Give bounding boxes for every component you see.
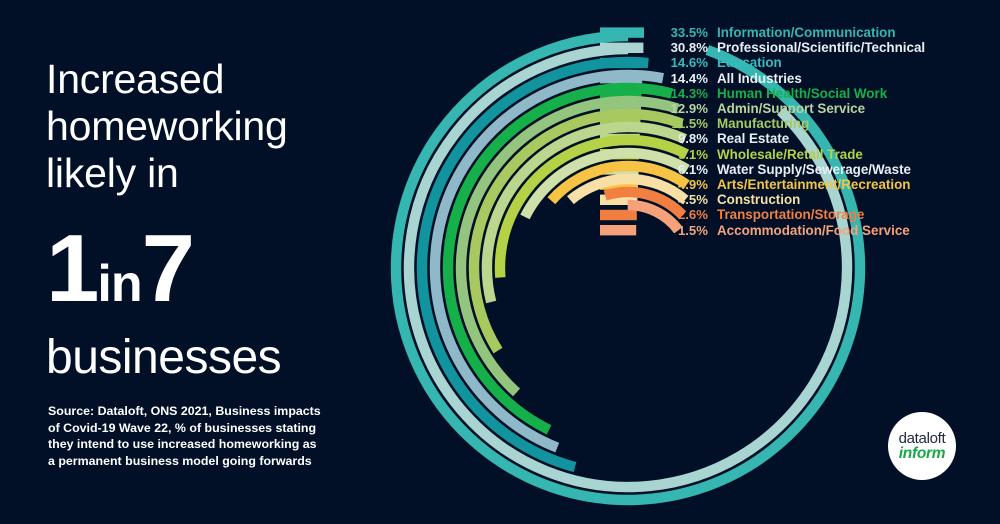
logo-text-dataloft: dataloft — [899, 431, 946, 446]
legend-swatch — [600, 55, 644, 70]
legend-label: Wholesale/Retail Trade — [717, 147, 863, 162]
legend-swatch — [600, 71, 644, 86]
legend-item: 14.6%Education — [600, 55, 925, 70]
legend-value: 12.9% — [650, 101, 708, 116]
legend-item: 9.8%Real Estate — [600, 131, 925, 146]
legend-value: 6.1% — [650, 162, 708, 177]
headline-block: Increased homeworking likely in 1in7 bus… — [46, 56, 386, 384]
big-statistic-unit: businesses — [46, 332, 386, 384]
legend-label: Water Supply/Sewerage/Waste — [717, 162, 911, 177]
legend-label: Construction — [717, 192, 800, 207]
big-number-one: 1 — [46, 215, 97, 322]
legend-value: 14.3% — [650, 86, 708, 101]
logo-text-inform: inform — [899, 446, 945, 462]
legend-swatch — [600, 192, 644, 207]
legend-item: 12.9%Admin/Support Service — [600, 101, 925, 116]
source-line-2: of Covid-19 Wave 22, % of businesses sta… — [48, 420, 348, 437]
infographic-canvas: Increased homeworking likely in 1in7 bus… — [0, 0, 1000, 524]
legend-swatch — [600, 101, 644, 116]
legend-value: 9.1% — [650, 147, 708, 162]
legend-value: 4.9% — [650, 177, 708, 192]
legend-value: 4.5% — [650, 192, 708, 207]
legend-label: Transportation/Storage — [717, 207, 864, 222]
chart-legend: 33.5%Information/Communication30.8%Profe… — [600, 25, 925, 238]
legend-label: Real Estate — [717, 131, 789, 146]
legend-swatch — [600, 86, 644, 101]
legend-label: Education — [717, 55, 782, 70]
legend-item: 2.6%Transportation/Storage — [600, 207, 925, 222]
legend-value: 33.5% — [650, 25, 708, 40]
legend-label: Information/Communication — [717, 25, 896, 40]
legend-item: 33.5%Information/Communication — [600, 25, 925, 40]
legend-swatch — [600, 131, 644, 146]
big-number-seven: 7 — [142, 215, 193, 322]
legend-label: Manufacturing — [717, 116, 809, 131]
legend-value: 1.5% — [650, 223, 708, 238]
legend-label: Human Health/Social Work — [717, 86, 887, 101]
legend-item: 6.1%Water Supply/Sewerage/Waste — [600, 162, 925, 177]
source-line-4: a permanent business model going forward… — [48, 453, 348, 470]
headline-line-3: likely in — [46, 150, 386, 197]
legend-item: 4.5%Construction — [600, 192, 925, 207]
legend-value: 14.6% — [650, 55, 708, 70]
big-word-in: in — [97, 255, 141, 313]
legend-value: 30.8% — [650, 40, 708, 55]
legend-value: 14.4% — [650, 71, 708, 86]
source-line-1: Source: Dataloft, ONS 2021, Business imp… — [48, 403, 348, 420]
legend-item: 14.4%All Industries — [600, 71, 925, 86]
source-line-3: they intend to use increased homeworking… — [48, 436, 348, 453]
legend-value: 11.5% — [650, 116, 708, 131]
legend-swatch — [600, 116, 644, 131]
legend-item: 14.3%Human Health/Social Work — [600, 86, 925, 101]
legend-swatch — [600, 25, 644, 40]
big-statistic: 1in7 — [46, 223, 386, 330]
legend-swatch — [600, 177, 644, 192]
legend-item: 9.1%Wholesale/Retail Trade — [600, 147, 925, 162]
legend-swatch — [600, 207, 644, 222]
headline-line-2: homeworking — [46, 103, 386, 150]
legend-swatch — [600, 222, 644, 237]
dataloft-inform-logo: dataloft inform — [888, 412, 956, 480]
legend-label: Accommodation/Food Service — [717, 223, 910, 238]
legend-item: 4.9%Arts/Entertainment/Recreation — [600, 177, 925, 192]
legend-item: 30.8%Professional/Scientific/Technical — [600, 40, 925, 55]
legend-swatch — [600, 147, 644, 162]
legend-swatch — [600, 162, 644, 177]
legend-label: Arts/Entertainment/Recreation — [717, 177, 910, 192]
legend-value: 9.8% — [650, 131, 708, 146]
headline-line-1: Increased — [46, 56, 386, 103]
legend-label: All Industries — [717, 71, 802, 86]
legend-label: Admin/Support Service — [717, 101, 865, 116]
source-note: Source: Dataloft, ONS 2021, Business imp… — [48, 403, 348, 469]
legend-swatch — [600, 40, 644, 55]
legend-item: 11.5%Manufacturing — [600, 116, 925, 131]
legend-value: 2.6% — [650, 207, 708, 222]
legend-item: 1.5%Accommodation/Food Service — [600, 222, 925, 237]
legend-label: Professional/Scientific/Technical — [717, 40, 925, 55]
